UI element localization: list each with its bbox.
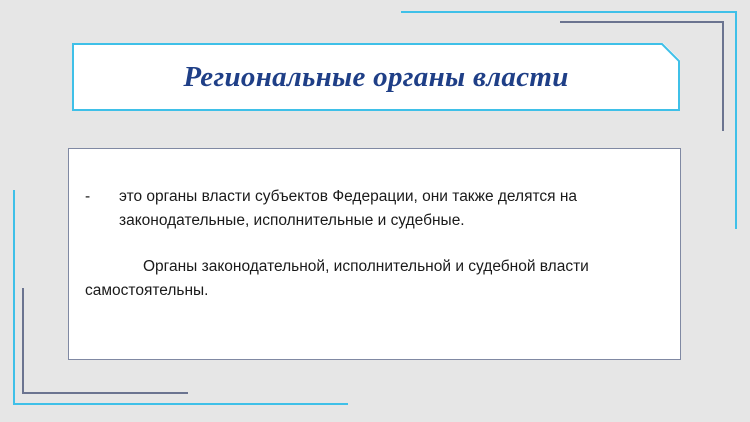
content-paragraph-2: Органы законодательной, исполнительной и… (85, 255, 662, 303)
page-title: Региональные органы власти (183, 61, 568, 94)
decor-line-bottom-left-cyan-vertical (13, 190, 15, 405)
decor-line-bottom-left-gray-horizontal (22, 392, 188, 394)
decor-line-top-right-cyan-horizontal (401, 11, 737, 13)
content-box: - это органы власти субъектов Федерации,… (68, 148, 681, 360)
decor-line-bottom-left-cyan-horizontal (13, 403, 348, 405)
bullet-marker: - (85, 185, 119, 209)
decor-line-top-right-cyan-vertical (735, 11, 737, 229)
decor-line-top-right-gray-vertical (722, 21, 724, 131)
content-paragraph-1: - это органы власти субъектов Федерации,… (85, 185, 662, 233)
title-box: Региональные органы власти (72, 43, 680, 111)
content-paragraph-1-text: это органы власти субъектов Федерации, о… (119, 185, 662, 233)
decor-line-bottom-left-gray-vertical (22, 288, 24, 394)
slide-canvas: Региональные органы власти - это органы … (0, 0, 750, 422)
decor-line-top-right-gray-horizontal (560, 21, 724, 23)
